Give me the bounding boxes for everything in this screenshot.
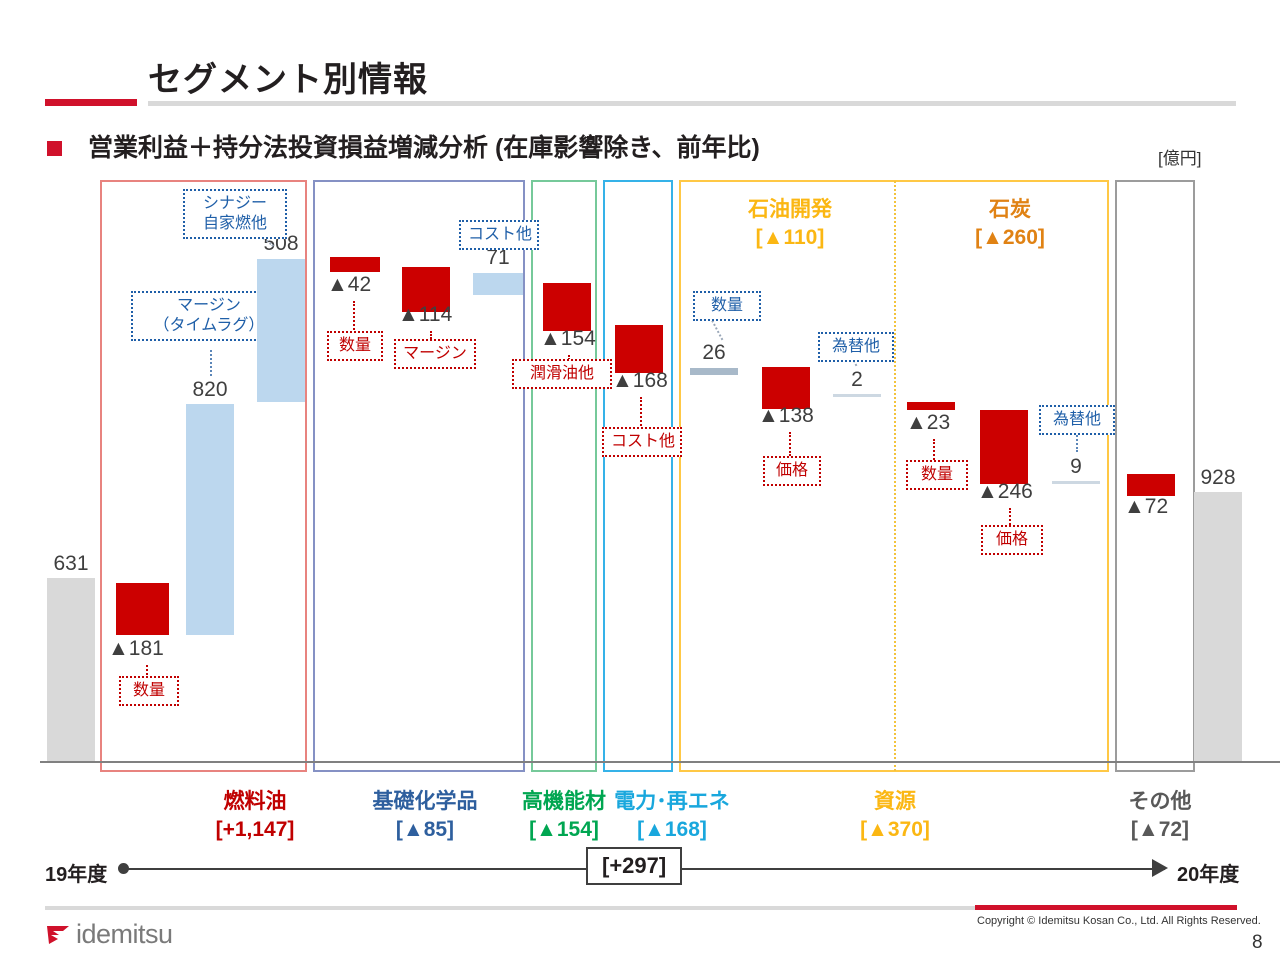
callout-coal-quantity: 数量 (906, 460, 968, 490)
value-fuel-margin: 820 (186, 378, 234, 402)
segment-other-name: その他 (1065, 788, 1255, 816)
page-number: 8 (1252, 932, 1263, 954)
bar-functional-lubricant (543, 283, 591, 331)
value-coal-fx: 9 (1052, 455, 1100, 479)
callout-fuel-synergy: シナジー 自家燃他 (183, 189, 287, 239)
subgroup-heading-oil: 石油開発 [▲110] (700, 196, 880, 253)
idemitsu-logo-icon (45, 924, 71, 946)
segment-label-power: 電力･再エネ [▲168] (612, 788, 732, 845)
bar-fuel-margin (186, 404, 234, 635)
leader-oil-price (789, 432, 791, 456)
value-chem-margin: ▲114 (398, 303, 452, 327)
copyright-text: Copyright © Idemitsu Kosan Co., Ltd. All… (977, 915, 1261, 927)
callout-power-cost: コスト他 (602, 427, 682, 457)
title-accent-rule (45, 99, 137, 106)
callout-chem-quantity: 数量 (327, 331, 383, 361)
value-coal-price: ▲246 (977, 480, 1033, 504)
subgroup-oil-value: [▲110] (700, 224, 880, 252)
callout-functional-lubricant: 潤滑油他 (512, 359, 612, 389)
bar-end-total (1194, 492, 1242, 761)
leader-power-cost (640, 397, 642, 426)
callout-fuel-quantity: 数量 (119, 676, 179, 706)
segment-res-name: 資源 (800, 788, 990, 816)
unit-label: [億円] (1158, 144, 1201, 169)
bar-fuel-quantity (116, 583, 169, 635)
value-fuel-quantity: ▲181 (108, 637, 164, 661)
value-oil-fx: 2 (833, 368, 881, 392)
callout-oil-price: 価格 (763, 456, 821, 486)
page-title: セグメント別情報 (148, 52, 428, 101)
value-other: ▲72 (1124, 495, 1168, 519)
segment-label-functional: 高機能材 [▲154] (508, 788, 620, 845)
segment-label-chemicals: 基礎化学品 [▲85] (330, 788, 520, 845)
footer-accent-rule (975, 905, 1237, 910)
group-panel-power (603, 180, 673, 772)
callout-chem-margin: マージン (394, 339, 476, 369)
chart-baseline (40, 761, 1280, 763)
callout-oil-quantity: 数量 (693, 291, 761, 321)
value-oil-quantity: 26 (690, 341, 738, 365)
axis-end-year: 20年度 (1177, 858, 1239, 887)
leader-coal-quantity (933, 439, 935, 460)
bar-oil-price (762, 367, 810, 409)
subgroup-coal-name: 石炭 (920, 196, 1100, 224)
leader-chem-quantity (353, 301, 355, 330)
segment-power-value: [▲168] (612, 816, 732, 844)
value-oil-price: ▲138 (758, 404, 814, 428)
axis-arrow-head-icon (1152, 859, 1168, 877)
callout-coal-fx: 為替他 (1039, 405, 1115, 435)
bar-fuel-synergy (257, 259, 305, 402)
subgroup-coal-value: [▲260] (920, 224, 1100, 252)
bar-coal-quantity (907, 402, 955, 410)
segment-label-resources: 資源 [▲370] (800, 788, 990, 845)
bar-coal-price (980, 410, 1028, 484)
leader-coal-price (1009, 508, 1011, 525)
leader-chem-margin (430, 331, 432, 339)
subgroup-heading-coal: 石炭 [▲260] (920, 196, 1100, 253)
value-functional-lubricant: ▲154 (540, 327, 596, 351)
subtitle: 営業利益＋持分法投資損益増減分析 (在庫影響除き、前年比) (88, 128, 760, 164)
group-panel-functional (531, 180, 597, 772)
callout-fuel-synergy-line1: シナジー (192, 194, 278, 214)
segment-power-name: 電力･再エネ (612, 788, 732, 816)
leader-fuel-margin (210, 350, 212, 376)
bar-coal-fx (1052, 481, 1100, 484)
subgroup-oil-name: 石油開発 (700, 196, 880, 224)
bar-chem-quantity (330, 257, 380, 272)
segment-func-value: [▲154] (508, 816, 620, 844)
segment-res-value: [▲370] (800, 816, 990, 844)
bar-power-cost (615, 325, 663, 373)
bar-oil-fx (833, 394, 881, 397)
segment-func-name: 高機能材 (508, 788, 620, 816)
company-logo: idemitsu (45, 919, 173, 950)
value-end-total: 928 (1194, 466, 1242, 490)
value-power-cost: ▲168 (612, 369, 668, 393)
logo-wordmark: idemitsu (76, 919, 173, 950)
axis-start-year: 19年度 (45, 858, 107, 887)
callout-fuel-synergy-line2: 自家燃他 (192, 214, 278, 234)
bar-chem-cost (473, 273, 523, 295)
resources-subgroup-divider (894, 181, 896, 771)
segment-chem-name: 基礎化学品 (330, 788, 520, 816)
title-divider-rule (148, 101, 1236, 106)
slide-root: セグメント別情報 営業利益＋持分法投資損益増減分析 (在庫影響除き、前年比) [… (0, 0, 1280, 960)
bar-oil-quantity (690, 368, 738, 375)
segment-label-other: その他 [▲72] (1065, 788, 1255, 845)
total-change-badge: [+297] (586, 847, 682, 885)
bar-start-total (47, 578, 95, 761)
segment-chem-value: [▲85] (330, 816, 520, 844)
bar-other (1127, 474, 1175, 496)
value-start-total: 631 (47, 552, 95, 576)
segment-other-value: [▲72] (1065, 816, 1255, 844)
bullet-square-icon (47, 141, 62, 156)
value-chem-quantity: ▲42 (327, 273, 371, 297)
value-coal-quantity: ▲23 (906, 411, 950, 435)
callout-oil-fx: 為替他 (818, 332, 894, 362)
callout-chem-cost: コスト他 (459, 220, 539, 250)
callout-coal-price: 価格 (981, 525, 1043, 555)
